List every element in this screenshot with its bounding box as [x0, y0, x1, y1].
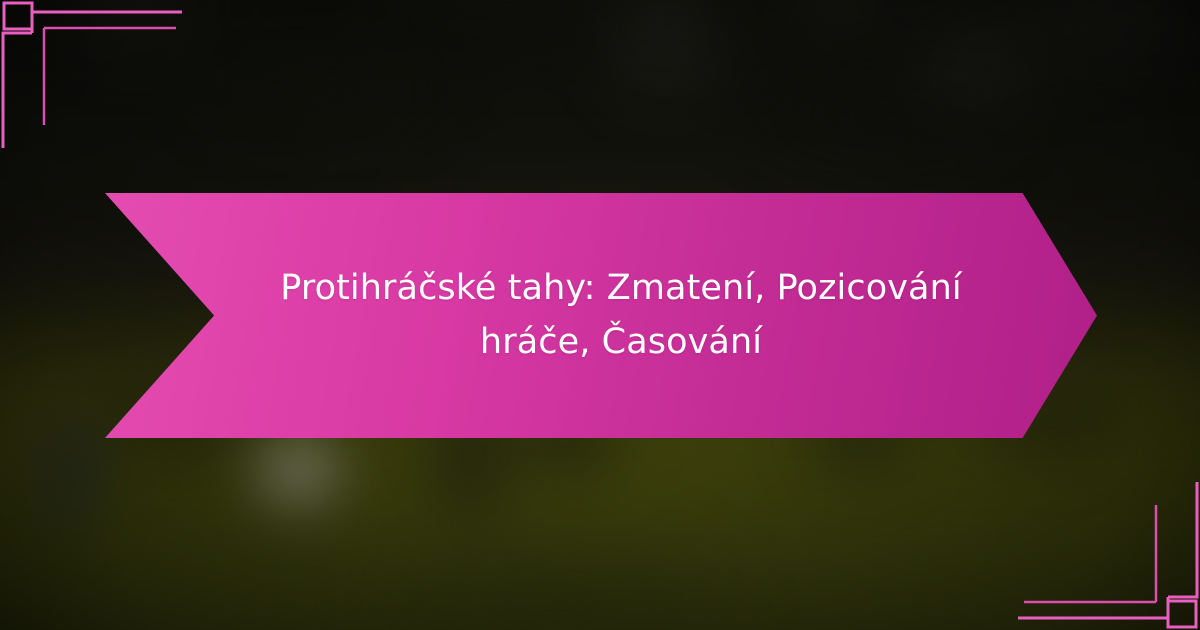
banner-canvas: Protihráčské tahy: Zmatení, Pozicování h… — [0, 0, 1200, 630]
corner-bracket-icon — [950, 480, 1200, 630]
corner-bracket-bottom-right — [950, 480, 1200, 630]
corner-bracket-top-left — [0, 0, 250, 150]
corner-bracket-icon — [0, 0, 250, 150]
banner-title: Protihráčské tahy: Zmatení, Pozicování h… — [265, 262, 977, 368]
headline-banner: Protihráčské tahy: Zmatení, Pozicování h… — [105, 193, 1097, 438]
